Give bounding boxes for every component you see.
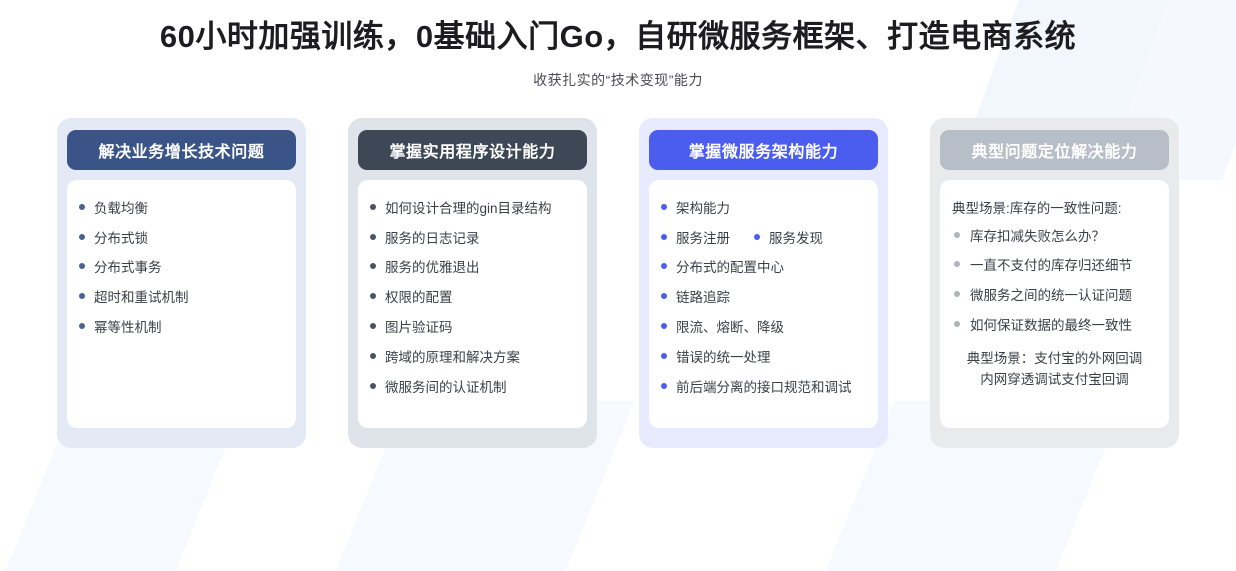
list-item: 跨域的原理和解决方案 [370, 351, 575, 366]
capability-card: 解决业务增长技术问题负载均衡分布式锁分布式事务超时和重试机制幂等性机制 [57, 118, 306, 448]
bullet-icon [661, 293, 667, 299]
capability-card: 掌握微服务架构能力架构能力服务注册服务发现分布式的配置中心链路追踪限流、熔断、降… [639, 118, 888, 448]
list-item-label: 前后端分离的接口规范和调试 [676, 381, 852, 396]
list-item-label: 微服务之间的统一认证问题 [970, 289, 1132, 304]
bullet-icon [79, 204, 85, 210]
list-item: 服务的日志记录 [370, 232, 575, 247]
capability-card: 掌握实用程序设计能力如何设计合理的gin目录结构服务的日志记录服务的优雅退出权限… [348, 118, 597, 448]
list-item: 错误的统一处理 [661, 351, 866, 366]
list-item-label: 服务的优雅退出 [385, 261, 480, 276]
scenario-footer-line-1: 典型场景：支付宝的外网回调 [967, 351, 1143, 366]
page-subtitle: 收获扎实的“技术变现”能力 [0, 70, 1236, 90]
list-item: 分布式事务 [79, 261, 284, 276]
list-item-label: 幂等性机制 [94, 321, 162, 336]
bullet-icon [370, 204, 376, 210]
list-item-label: 分布式锁 [94, 232, 148, 247]
list-item-label: 权限的配置 [385, 291, 453, 306]
card-body: 典型场景:库存的一致性问题:库存扣减失败怎么办？一直不支付的库存归还细节微服务之… [940, 180, 1169, 428]
card-item-list: 库存扣减失败怎么办？一直不支付的库存归还细节微服务之间的统一认证问题如何保证数据… [952, 230, 1157, 334]
list-item-label: 分布式的配置中心 [676, 261, 784, 276]
bullet-icon [370, 383, 376, 389]
list-item-label: 限流、熔断、降级 [676, 321, 784, 336]
bullet-icon [370, 234, 376, 240]
list-item-label: 图片验证码 [385, 321, 453, 336]
capability-card: 典型问题定位解决能力典型场景:库存的一致性问题:库存扣减失败怎么办？一直不支付的… [930, 118, 1179, 448]
card-body: 如何设计合理的gin目录结构服务的日志记录服务的优雅退出权限的配置图片验证码跨域… [358, 180, 587, 428]
list-item: 微服务之间的统一认证问题 [952, 289, 1157, 304]
list-item: 架构能力 [661, 202, 866, 217]
list-item-label: 服务的日志记录 [385, 232, 480, 247]
bullet-icon [79, 293, 85, 299]
list-item-label: 微服务间的认证机制 [385, 381, 507, 396]
card-item-list: 如何设计合理的gin目录结构服务的日志记录服务的优雅退出权限的配置图片验证码跨域… [370, 202, 575, 396]
list-item-secondary: 服务发现 [754, 232, 823, 247]
bullet-icon [954, 321, 960, 327]
bullet-icon [661, 383, 667, 389]
list-item-label: 如何保证数据的最终一致性 [970, 319, 1132, 334]
scenario-heading: 典型场景:库存的一致性问题: [952, 202, 1157, 217]
list-item: 链路追踪 [661, 291, 866, 306]
list-item: 限流、熔断、降级 [661, 321, 866, 336]
list-item-label: 如何设计合理的gin目录结构 [385, 202, 552, 217]
list-item-label: 分布式事务 [94, 261, 162, 276]
card-header-2: 掌握实用程序设计能力 [358, 130, 587, 170]
bullet-icon [79, 323, 85, 329]
list-item: 超时和重试机制 [79, 291, 284, 306]
bullet-icon [661, 204, 667, 210]
bullet-icon [954, 291, 960, 297]
list-item-label: 跨域的原理和解决方案 [385, 351, 520, 366]
bullet-icon [79, 263, 85, 269]
list-item: 库存扣减失败怎么办？ [952, 230, 1157, 245]
list-item-label: 一直不支付的库存归还细节 [970, 259, 1132, 274]
bullet-icon [661, 263, 667, 269]
list-item: 分布式锁 [79, 232, 284, 247]
bullet-icon [661, 234, 667, 240]
scenario-footer-line-2: 内网穿透调试支付宝回调 [952, 370, 1157, 391]
page-header: 60小时加强训练，0基础入门Go，自研微服务框架、打造电商系统 收获扎实的“技术… [0, 0, 1236, 90]
list-item-label: 库存扣减失败怎么办？ [970, 230, 1105, 245]
bullet-icon [79, 234, 85, 240]
bullet-icon [754, 234, 760, 240]
list-item: 权限的配置 [370, 291, 575, 306]
list-item: 如何设计合理的gin目录结构 [370, 202, 575, 217]
bullet-icon [661, 323, 667, 329]
page-title: 60小时加强训练，0基础入门Go，自研微服务框架、打造电商系统 [0, 18, 1236, 57]
capability-cards-row: 解决业务增长技术问题负载均衡分布式锁分布式事务超时和重试机制幂等性机制掌握实用程… [0, 118, 1236, 448]
list-item: 如何保证数据的最终一致性 [952, 319, 1157, 334]
card-body: 负载均衡分布式锁分布式事务超时和重试机制幂等性机制 [67, 180, 296, 428]
card-body: 架构能力服务注册服务发现分布式的配置中心链路追踪限流、熔断、降级错误的统一处理前… [649, 180, 878, 428]
bullet-icon [370, 353, 376, 359]
list-item: 前后端分离的接口规范和调试 [661, 381, 866, 396]
list-item-label: 服务注册 [676, 232, 730, 247]
list-item: 微服务间的认证机制 [370, 381, 575, 396]
scenario-footer: 典型场景：支付宝的外网回调内网穿透调试支付宝回调 [952, 349, 1157, 391]
card-item-list: 架构能力服务注册服务发现分布式的配置中心链路追踪限流、熔断、降级错误的统一处理前… [661, 202, 866, 396]
list-item-label: 错误的统一处理 [676, 351, 771, 366]
list-item-label: 架构能力 [676, 202, 730, 217]
bullet-icon [954, 261, 960, 267]
list-item-label: 链路追踪 [676, 291, 730, 306]
bullet-icon [370, 323, 376, 329]
card-title: 解决业务增长技术问题 [98, 138, 264, 162]
card-title: 掌握微服务架构能力 [689, 138, 838, 162]
card-title: 掌握实用程序设计能力 [389, 138, 555, 162]
list-item: 服务的优雅退出 [370, 261, 575, 276]
card-header-1: 解决业务增长技术问题 [67, 130, 296, 170]
bullet-icon [954, 232, 960, 238]
list-item: 服务注册服务发现 [661, 232, 866, 247]
card-header-4: 典型问题定位解决能力 [940, 130, 1169, 170]
card-item-list: 负载均衡分布式锁分布式事务超时和重试机制幂等性机制 [79, 202, 284, 336]
bullet-icon [661, 353, 667, 359]
list-item: 图片验证码 [370, 321, 575, 336]
bullet-icon [370, 263, 376, 269]
list-item: 幂等性机制 [79, 321, 284, 336]
list-item-label: 超时和重试机制 [94, 291, 189, 306]
list-item: 负载均衡 [79, 202, 284, 217]
list-item: 一直不支付的库存归还细节 [952, 259, 1157, 274]
card-title: 典型问题定位解决能力 [971, 138, 1137, 162]
list-item-secondary-label: 服务发现 [769, 232, 823, 247]
bullet-icon [370, 293, 376, 299]
card-header-3: 掌握微服务架构能力 [649, 130, 878, 170]
list-item: 分布式的配置中心 [661, 261, 866, 276]
list-item-label: 负载均衡 [94, 202, 148, 217]
